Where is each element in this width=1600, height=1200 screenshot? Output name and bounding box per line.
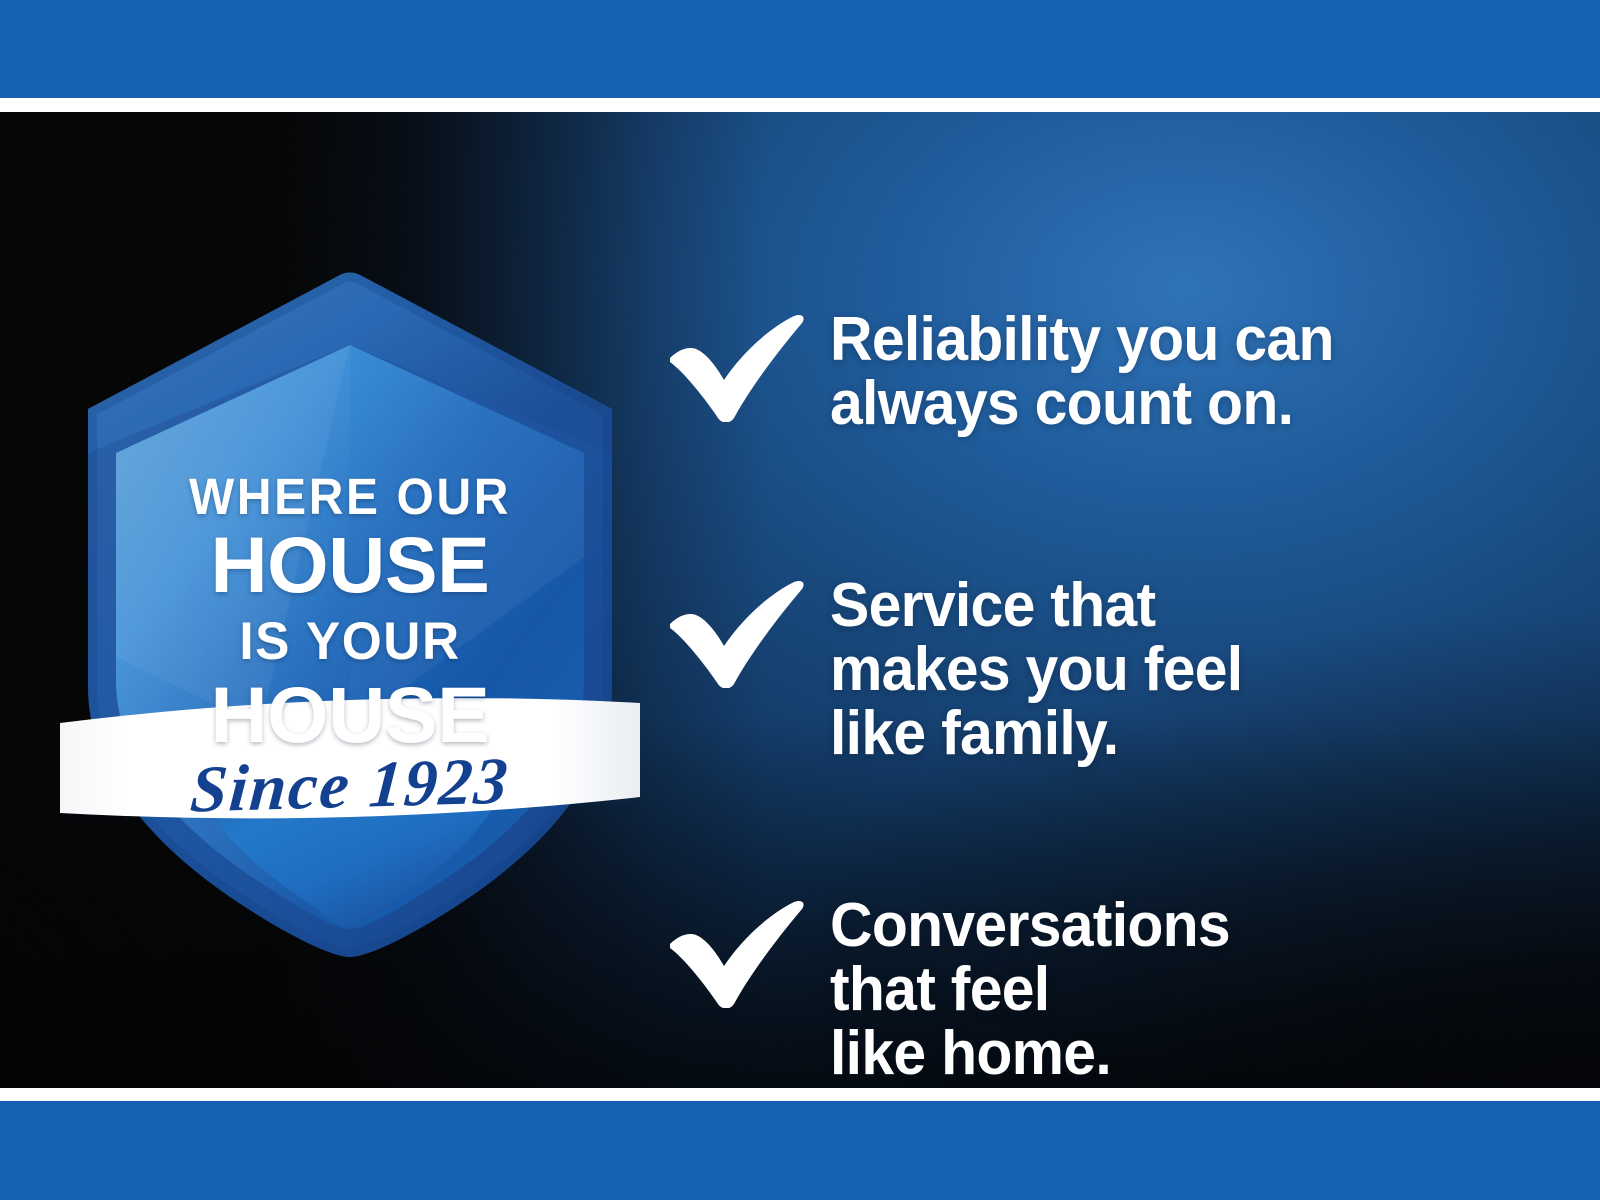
benefit-item: Reliability you can always count on.: [660, 308, 1540, 436]
checkmark-icon: [660, 574, 830, 688]
bottom-divider-stripe: [0, 1088, 1600, 1101]
checkmark-icon: [660, 308, 830, 422]
shield-line-is-your: IS YOUR: [78, 615, 621, 668]
main-canvas: WHERE OUR HOUSE IS YOUR HOUSE Since 1923…: [0, 112, 1600, 1088]
benefit-text: Reliability you can always count on.: [830, 308, 1334, 436]
shield-line-house-2: HOUSE: [70, 675, 630, 754]
checkmark-glyph: [666, 314, 808, 422]
benefits-list: Reliability you can always count on. Ser…: [660, 224, 1540, 1088]
bottom-brand-bar: [0, 1101, 1600, 1200]
checkmark-glyph: [666, 580, 808, 688]
shield-line-where: WHERE OUR: [87, 471, 613, 522]
shield-badge: WHERE OUR HOUSE IS YOUR HOUSE Since 1923: [70, 257, 630, 957]
checkmark-glyph: [666, 900, 808, 1008]
top-brand-bar: [0, 0, 1600, 98]
top-divider-stripe: [0, 98, 1600, 112]
benefit-item: Service that makes you feel like family.: [660, 574, 1540, 766]
shield-line-house-1: HOUSE: [70, 525, 630, 604]
benefit-text: Conversations that feel like home.: [830, 894, 1230, 1086]
checkmark-icon: [660, 894, 830, 1008]
benefit-item: Conversations that feel like home.: [660, 894, 1540, 1086]
benefit-text: Service that makes you feel like family.: [830, 574, 1242, 766]
promo-graphic: WHERE OUR HOUSE IS YOUR HOUSE Since 1923…: [0, 0, 1600, 1200]
